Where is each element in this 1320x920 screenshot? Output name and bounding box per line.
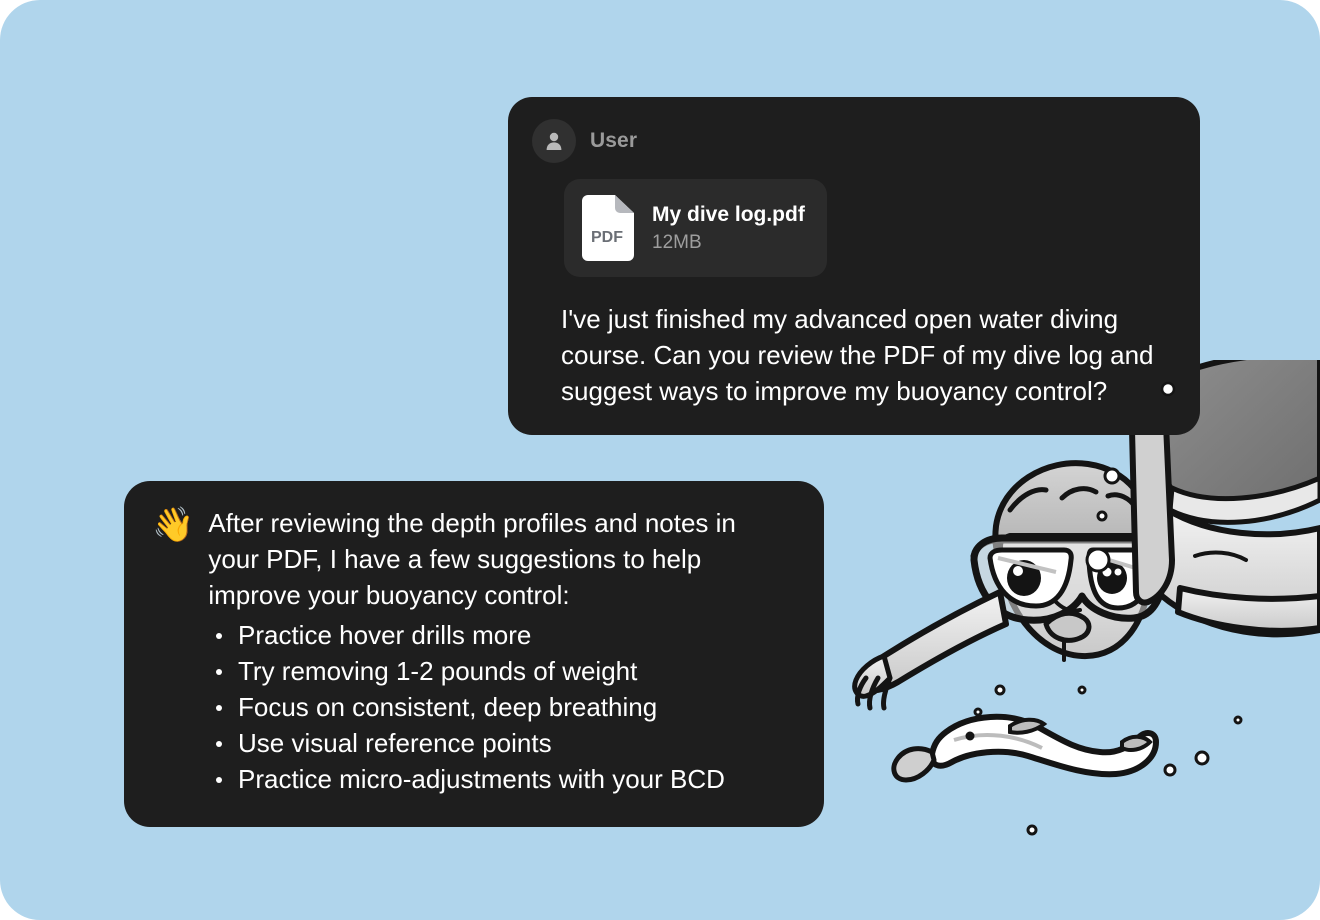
assistant-message-card: 👋 After reviewing the depth profiles and… — [124, 481, 824, 827]
pdf-file-icon: PDF — [582, 195, 634, 261]
pdf-file-size: 12MB — [652, 232, 805, 254]
chat-canvas: User PDF My dive log.pdf 12MB I've just … — [0, 0, 1320, 920]
fish — [894, 717, 1156, 780]
snorkeler-and-fish-illustration — [850, 360, 1320, 920]
list-item: Use visual reference points — [214, 725, 796, 761]
eye-left — [1007, 560, 1041, 596]
diver-head — [974, 463, 1166, 660]
user-message-card: User PDF My dive log.pdf 12MB I've just … — [508, 97, 1200, 435]
person-avatar-icon — [532, 119, 576, 163]
assistant-intro-text: After reviewing the depth profiles and n… — [208, 505, 768, 613]
screenshot-root: User PDF My dive log.pdf 12MB I've just … — [0, 0, 1320, 920]
list-item: Focus on consistent, deep breathing — [214, 689, 796, 725]
assistant-intro-row: 👋 After reviewing the depth profiles and… — [152, 505, 796, 613]
list-item: Try removing 1-2 pounds of weight — [214, 653, 796, 689]
assistant-suggestion-list: Practice hover drills more Try removing … — [152, 617, 796, 797]
fish-eye — [966, 732, 975, 741]
pdf-file-name: My dive log.pdf — [652, 203, 805, 227]
waving-hand-emoji: 👋 — [152, 507, 194, 543]
list-item: Practice hover drills more — [214, 617, 796, 653]
diver-left-arm — [855, 592, 1006, 708]
user-message-header: User — [532, 119, 1176, 163]
pdf-file-meta: My dive log.pdf 12MB — [652, 203, 805, 254]
list-item: Practice micro-adjustments with your BCD — [214, 761, 796, 797]
user-message-body: I've just finished my advanced open wate… — [561, 301, 1176, 409]
eye-right — [1097, 562, 1127, 594]
user-author-label: User — [590, 129, 637, 153]
air-bubbles — [975, 367, 1241, 834]
pdf-icon-label: PDF — [591, 229, 623, 246]
snorkel-tube — [1132, 416, 1172, 603]
pdf-attachment-card[interactable]: PDF My dive log.pdf 12MB — [564, 179, 827, 277]
